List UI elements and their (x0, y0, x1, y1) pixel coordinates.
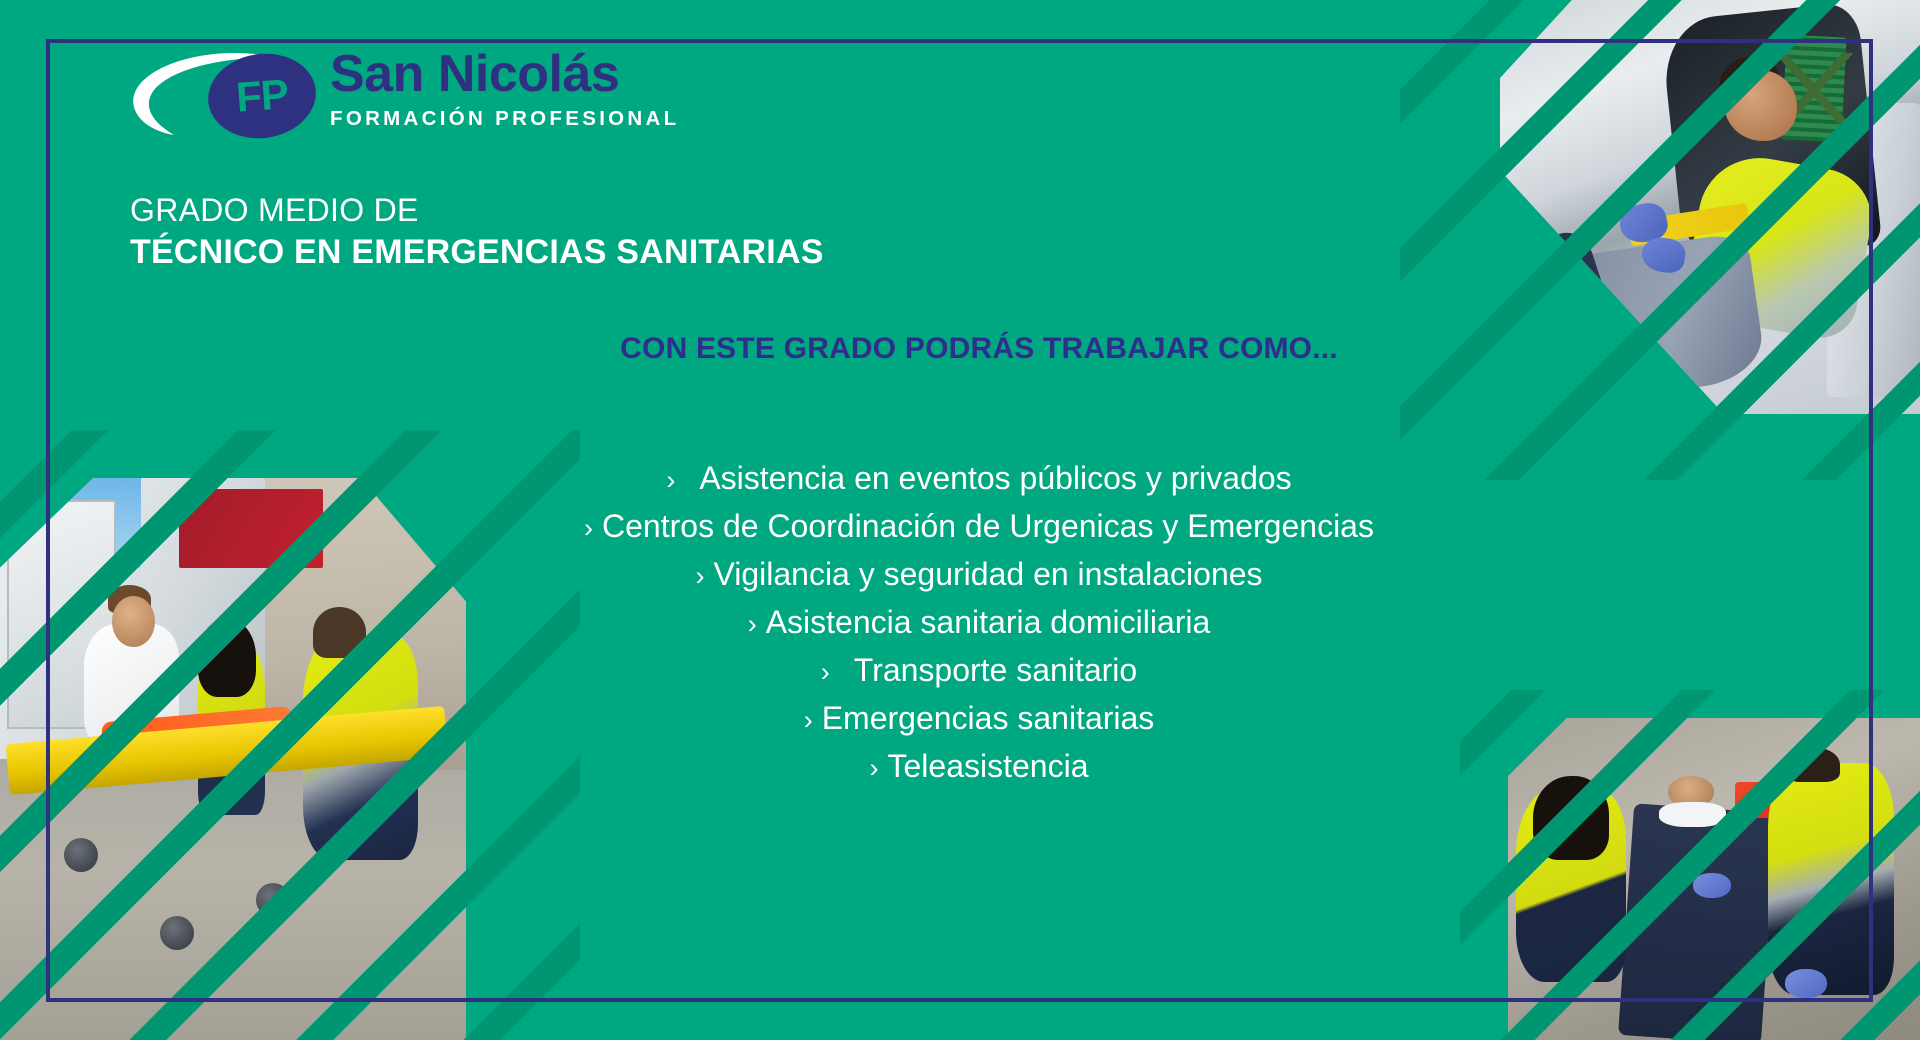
job-role-item: ›Vigilancia y seguridad en instalaciones (695, 551, 1262, 599)
job-role-label: Teleasistencia (888, 743, 1089, 789)
photo-spinal-board (1618, 803, 1777, 1040)
photo-glove-a (1693, 873, 1731, 899)
chevron-right-icon: › (804, 697, 813, 743)
chevron-right-icon: › (870, 745, 879, 791)
job-role-item: ›Asistencia sanitaria domiciliaria (748, 599, 1211, 647)
chevron-right-icon: › (666, 457, 675, 503)
chevron-right-icon: › (584, 505, 593, 551)
brand-lockup: San Nicolás FORMACIÓN PROFESIONAL (330, 48, 679, 130)
chevron-right-icon: › (695, 553, 704, 599)
fp-monogram: FP (205, 50, 319, 141)
job-role-label: Emergencias sanitarias (822, 695, 1155, 741)
photo-medic-right-body (1768, 763, 1894, 995)
job-role-item: ›Transporte sanitario (821, 647, 1137, 695)
job-role-label: Asistencia en eventos públicos y privado… (699, 455, 1291, 501)
chevron-right-icon: › (821, 649, 830, 695)
photo-glove-b (1785, 969, 1827, 998)
degree-title: TÉCNICO EN EMERGENCIAS SANITARIAS (130, 233, 824, 272)
job-role-label: Asistencia sanitaria domiciliaria (766, 599, 1211, 645)
photo-stretcher-wheel (64, 838, 98, 872)
brand-name: San Nicolás (330, 48, 679, 100)
grade-level-label: GRADO MEDIO DE (130, 192, 419, 229)
job-role-label: Centros de Coordinación de Urgenicas y E… (602, 503, 1374, 549)
job-role-item: ›Emergencias sanitarias (804, 695, 1155, 743)
photo-cervical-collar (1659, 802, 1726, 828)
job-role-item: ›Teleasistencia (870, 743, 1089, 791)
brand-subtitle: FORMACIÓN PROFESIONAL (330, 109, 679, 130)
poster-canvas: FP San Nicolás FORMACIÓN PROFESIONAL GRA… (0, 0, 1920, 1040)
job-role-item: ›Centros de Coordinación de Urgenicas y … (584, 503, 1374, 551)
photo-stretcher-wheel (256, 883, 290, 917)
job-roles-list: ›Asistencia en eventos públicos y privad… (0, 455, 1920, 791)
job-role-item: ›Asistencia en eventos públicos y privad… (666, 455, 1291, 503)
chevron-right-icon: › (748, 601, 757, 647)
job-role-label: Transporte sanitario (854, 647, 1137, 693)
job-role-label: Vigilancia y seguridad en instalaciones (713, 551, 1262, 597)
work-section-heading: CON ESTE GRADO PODRÁS TRABAJAR COMO... (0, 332, 1920, 366)
logo-san-nicolas: FP San Nicolás FORMACIÓN PROFESIONAL (130, 48, 670, 140)
